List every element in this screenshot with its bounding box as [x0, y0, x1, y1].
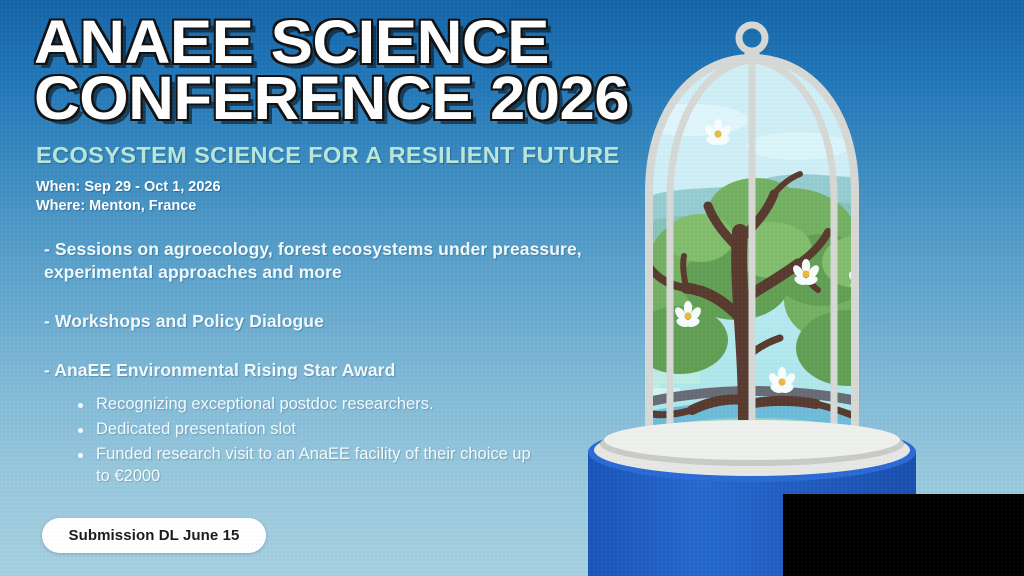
ring-finial: [739, 25, 765, 64]
event-date: When: Sep 29 - Oct 1, 2026: [36, 178, 221, 197]
conference-poster: ANAEE SCIENCE CONFERENCE 2026 ECOSYSTEM …: [0, 0, 1024, 576]
submission-deadline-button[interactable]: Submission DL June 15: [42, 518, 266, 553]
list-item: Funded research visit to an AnaEE facili…: [72, 444, 542, 488]
highlights-list: - Sessions on agroecology, forest ecosys…: [44, 238, 584, 382]
list-item: Dedicated presentation slot: [72, 419, 542, 441]
highlight-sessions: - Sessions on agroecology, forest ecosys…: [44, 238, 584, 284]
highlight-workshops: - Workshops and Policy Dialogue: [44, 310, 584, 333]
list-item: Recognizing exceptional postdoc research…: [72, 394, 542, 416]
corner-block: [783, 494, 1024, 576]
event-location: Where: Menton, France: [36, 197, 221, 216]
award-details-list: Recognizing exceptional postdoc research…: [72, 394, 542, 491]
highlight-award: - AnaEE Environmental Rising Star Award: [44, 359, 584, 382]
page-title: ANAEE SCIENCE CONFERENCE 2026: [34, 14, 700, 126]
dome-base-rim: [594, 420, 910, 476]
page-subtitle: ECOSYSTEM SCIENCE FOR A RESILIENT FUTURE: [36, 142, 620, 169]
event-meta: When: Sep 29 - Oct 1, 2026 Where: Menton…: [36, 178, 221, 217]
poster-content: ANAEE SCIENCE CONFERENCE 2026 ECOSYSTEM …: [0, 0, 620, 576]
